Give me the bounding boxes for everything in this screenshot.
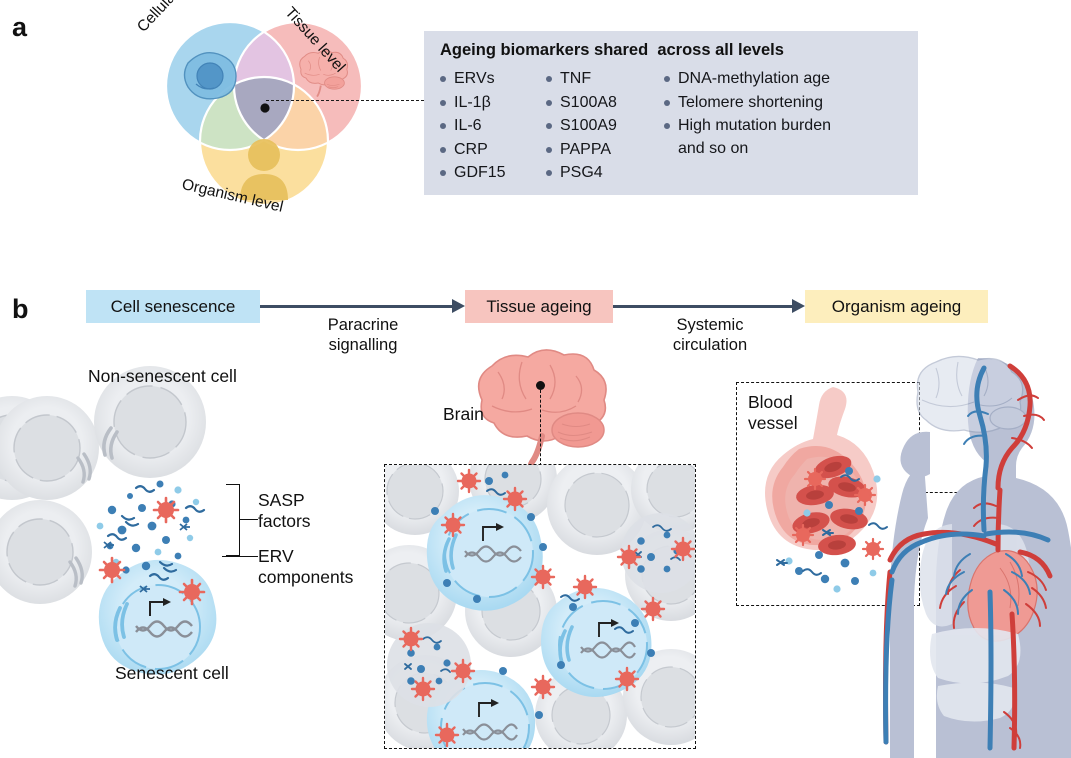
arrow-shaft	[260, 305, 452, 309]
brain-illustration	[468, 348, 618, 464]
panel-letter-b: b	[12, 296, 29, 323]
list-item: IL-6	[436, 114, 542, 138]
bullet-icon	[664, 100, 670, 106]
bullet-icon	[546, 123, 552, 129]
label-blood-vessel: Blood vessel	[748, 392, 798, 434]
list-item: ERVs	[436, 67, 542, 91]
bullet-icon	[546, 76, 552, 82]
tissue-cluster-svg	[385, 465, 696, 749]
arrow-shaft	[613, 305, 792, 309]
flow-stage-label: Organism ageing	[832, 297, 961, 317]
list-item: IL-1β	[436, 91, 542, 115]
cell-scene-svg	[0, 380, 260, 700]
label-brain: Brain	[443, 404, 484, 425]
biomarker-columns: ERVs IL-1β IL-6 CRP GDF15 TNF S100A8 S10…	[436, 67, 900, 185]
brain-marker-dot	[536, 381, 545, 390]
bullet-icon	[546, 147, 552, 153]
list-item: CRP	[436, 138, 542, 162]
arrow-head-icon	[452, 299, 465, 313]
list-item: S100A9	[542, 114, 660, 138]
biomarker-box: Ageing biomarkers shared across all leve…	[424, 31, 918, 195]
label-non-senescent-cell: Non-senescent cell	[88, 366, 237, 387]
bullet-icon	[440, 123, 446, 129]
biomarker-box-title: Ageing biomarkers shared across all leve…	[440, 41, 784, 60]
brain-icon	[479, 350, 606, 470]
list-item: High mutation burden and so on	[660, 114, 900, 160]
sasp-factors-particles	[107, 481, 190, 574]
label-sasp-factors: SASP factors	[258, 490, 311, 532]
sasp-bracket	[226, 484, 240, 556]
flow-caption-paracrine: Paracrine signalling	[283, 315, 443, 355]
list-item: PSG4	[542, 161, 660, 185]
abdominal-organs	[930, 628, 1020, 722]
human-body-illustration	[860, 356, 1071, 758]
bullet-icon	[440, 76, 446, 82]
list-item: Telomere shortening	[660, 91, 900, 115]
list-item: DNA-methylation age	[660, 67, 900, 91]
list-item: TNF	[542, 67, 660, 91]
cell-senescence-scene	[0, 380, 260, 700]
flow-stage-label: Cell senescence	[111, 297, 236, 317]
list-item: S100A8	[542, 91, 660, 115]
venn-to-box-leader	[266, 100, 424, 102]
figure-root: a	[0, 0, 1071, 758]
flow-caption-systemic: Systemic circulation	[630, 315, 790, 355]
venn-diagram: Cellular level Tissue level Organism lev…	[148, 8, 378, 208]
bullet-icon	[664, 76, 670, 82]
tissue-inset-box	[384, 464, 696, 749]
bullet-icon	[664, 123, 670, 129]
brain-svg	[468, 348, 618, 464]
label-erv-components: ERV components	[258, 546, 353, 588]
label-senescent-cell: Senescent cell	[115, 663, 229, 684]
venn-center-dot	[260, 103, 269, 112]
biomarker-column-3: DNA-methylation age Telomere shortening …	[660, 67, 900, 185]
panel-letter-a: a	[12, 14, 27, 41]
non-senescent-cell	[0, 500, 92, 604]
bullet-icon	[546, 100, 552, 106]
bullet-icon	[440, 147, 446, 153]
arrow-head-icon	[792, 299, 805, 313]
senescent-cell	[541, 588, 651, 697]
biomarker-column-2: TNF S100A8 S100A9 PAPPA PSG4	[542, 67, 660, 185]
list-item: PAPPA	[542, 138, 660, 162]
cell-icon	[185, 53, 237, 99]
flow-stage-organism-ageing[interactable]: Organism ageing	[805, 290, 988, 323]
flow-arrow-paracrine	[260, 303, 465, 309]
flow-stage-cell-senescence[interactable]: Cell senescence	[86, 290, 260, 323]
bullet-icon	[440, 100, 446, 106]
biomarker-column-1: ERVs IL-1β IL-6 CRP GDF15	[436, 67, 542, 185]
sasp-bracket-tick	[240, 519, 258, 520]
flow-stage-label: Tissue ageing	[486, 297, 591, 317]
flow-arrow-systemic	[613, 303, 805, 309]
erv-leader-line	[222, 556, 258, 557]
brain-to-tissue-leader	[540, 390, 541, 466]
human-body-svg	[860, 356, 1071, 758]
non-senescent-cell	[0, 396, 99, 500]
list-item: GDF15	[436, 161, 542, 185]
bullet-icon	[440, 170, 446, 176]
senescent-cell	[99, 560, 217, 675]
bullet-icon	[546, 170, 552, 176]
flow-stage-tissue-ageing[interactable]: Tissue ageing	[465, 290, 613, 323]
